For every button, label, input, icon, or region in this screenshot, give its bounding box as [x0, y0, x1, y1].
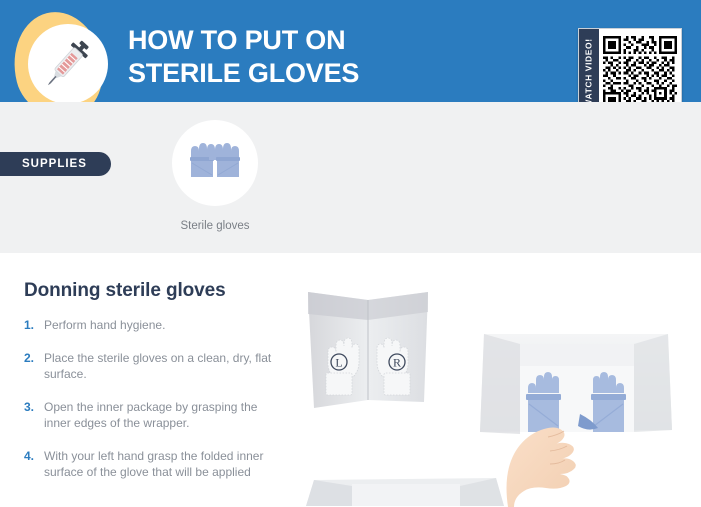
- supplies-badge-label: SUPPLIES: [22, 158, 87, 170]
- step-number: 3.: [24, 399, 44, 431]
- page-title-line-1: HOW TO PUT ON: [128, 24, 359, 57]
- steps-list: 1. Perform hand hygiene. 2. Place the st…: [24, 317, 284, 497]
- syringe-icon: [38, 33, 98, 93]
- section-title: Donning sterile gloves: [24, 280, 226, 302]
- page-header: HOW TO PUT ON STERILE GLOVES WATCH VIDEO…: [0, 0, 701, 102]
- sterile-gloves-icon: [183, 135, 247, 191]
- supply-caption: Sterile gloves: [180, 220, 249, 232]
- step-number: 2.: [24, 350, 44, 382]
- step-text: Place the sterile gloves on a clean, dry…: [44, 350, 284, 382]
- supply-item-sterile-gloves: Sterile gloves: [172, 120, 258, 232]
- supply-icon-circle: [172, 120, 258, 206]
- logo-circle: [28, 24, 108, 104]
- page-title-line-2: STERILE GLOVES: [128, 57, 359, 90]
- step-number: 4.: [24, 448, 44, 480]
- list-item: 3. Open the inner package by grasping th…: [24, 399, 284, 431]
- list-item: 2. Place the sterile gloves on a clean, …: [24, 350, 284, 382]
- step-text: Perform hand hygiene.: [44, 317, 165, 333]
- svg-text:R: R: [393, 356, 401, 370]
- glove-package-partial-illustration: [300, 470, 510, 507]
- open-glove-package-illustration: L R: [296, 278, 446, 413]
- supplies-section: [0, 102, 701, 253]
- page-title: HOW TO PUT ON STERILE GLOVES: [128, 24, 359, 90]
- list-item: 4. With your left hand grasp the folded …: [24, 448, 284, 480]
- infographic-page: HOW TO PUT ON STERILE GLOVES WATCH VIDEO…: [0, 0, 701, 507]
- svg-text:L: L: [335, 356, 342, 370]
- step-text: With your left hand grasp the folded inn…: [44, 448, 284, 480]
- supplies-badge: SUPPLIES: [0, 152, 111, 176]
- step-text: Open the inner package by grasping the i…: [44, 399, 284, 431]
- step-number: 1.: [24, 317, 44, 333]
- watch-video-label: WATCH VIDEO!: [584, 38, 594, 107]
- qr-code-image: [603, 33, 677, 113]
- list-item: 1. Perform hand hygiene.: [24, 317, 284, 333]
